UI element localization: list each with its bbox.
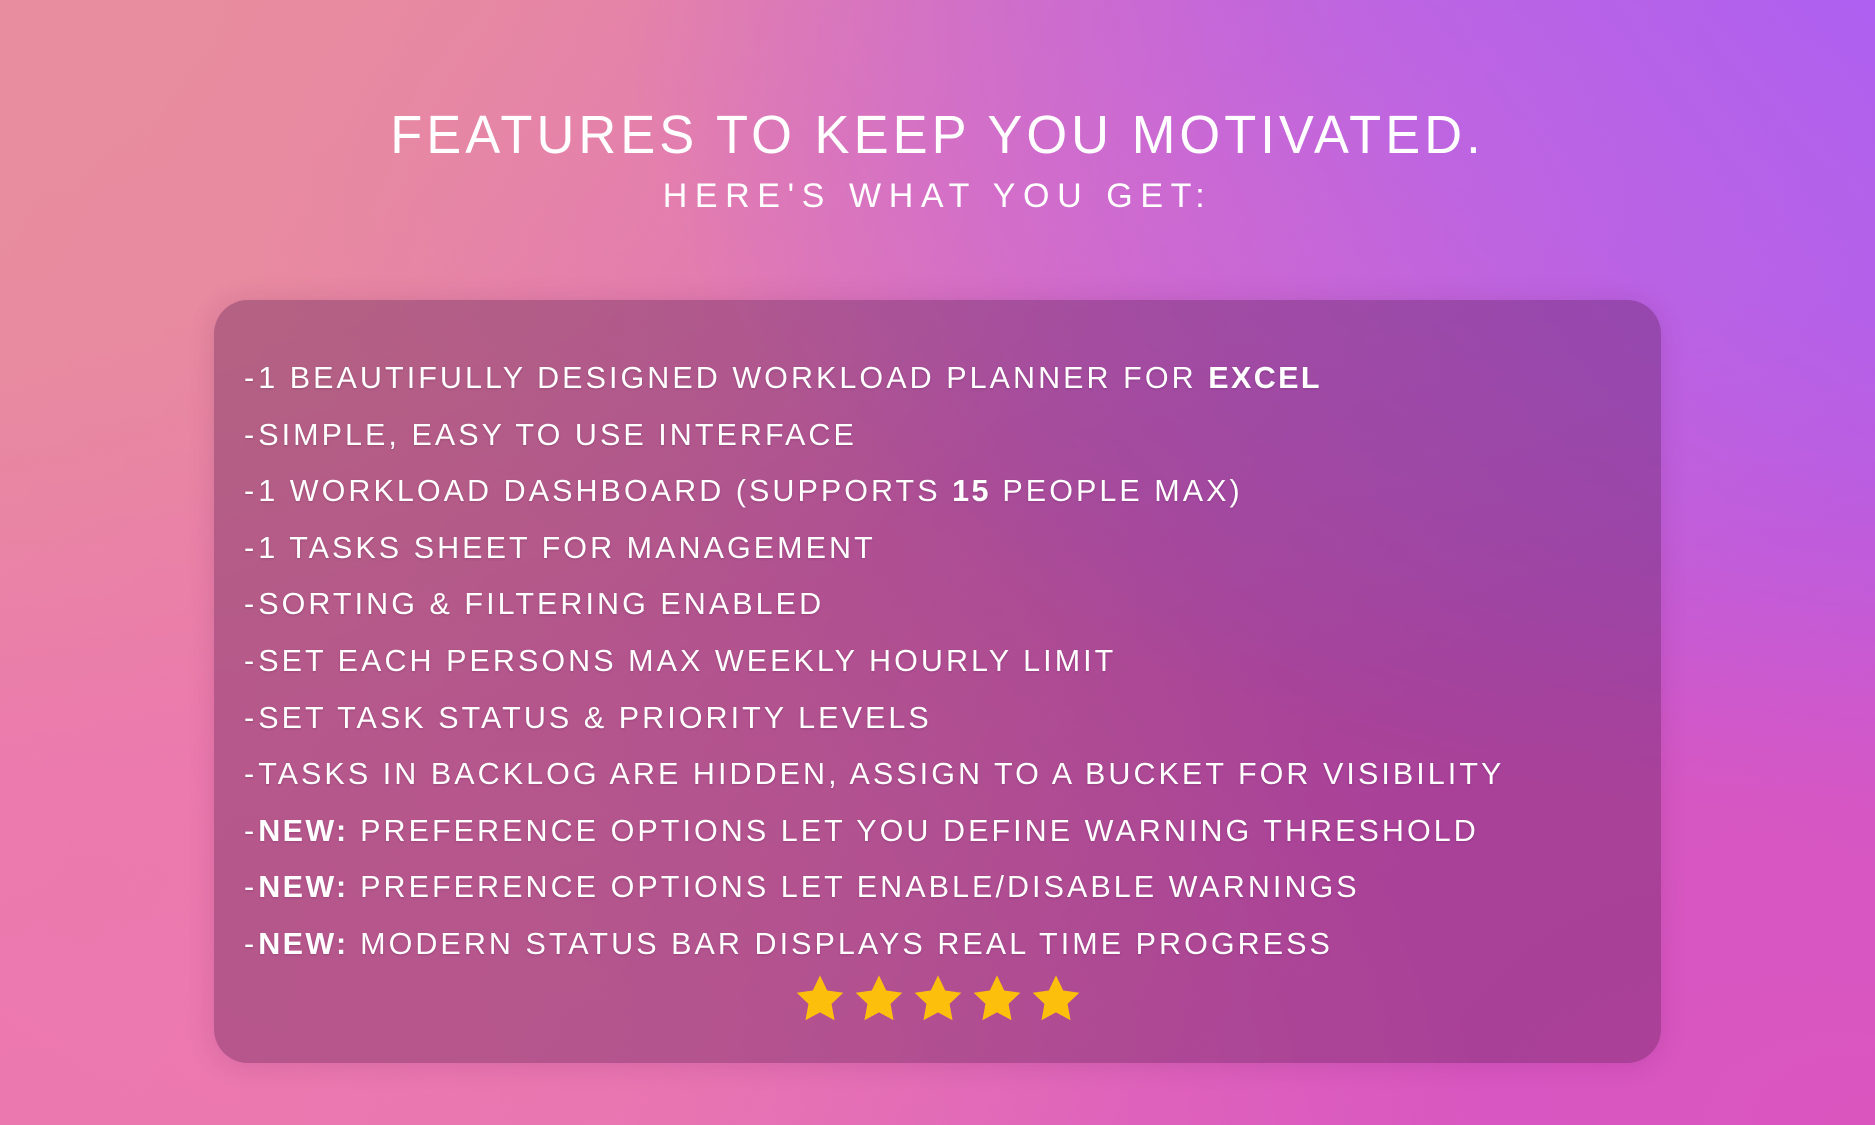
list-item-text: SORTING & FILTERING ENABLED <box>258 587 824 621</box>
bullet-dash: - <box>244 463 258 520</box>
list-item: - 1 WORKLOAD DASHBOARD (SUPPORTS 15 PEOP… <box>214 463 1661 520</box>
list-item-emphasis: NEW: <box>258 927 348 961</box>
list-item: - 1 BEAUTIFULLY DESIGNED WORKLOAD PLANNE… <box>214 350 1661 407</box>
bullet-dash: - <box>244 576 258 633</box>
list-item-text: 1 TASKS SHEET FOR MANAGEMENT <box>258 531 876 565</box>
list-item-emphasis: NEW: <box>258 814 348 848</box>
star-icon <box>1028 971 1084 1027</box>
star-icon <box>910 971 966 1027</box>
list-item: - TASKS IN BACKLOG ARE HIDDEN, ASSIGN TO… <box>214 746 1661 803</box>
list-item: - SORTING & FILTERING ENABLED <box>214 576 1661 633</box>
bullet-dash: - <box>244 350 258 407</box>
bullet-dash: - <box>244 407 258 464</box>
page-title: FEATURES TO KEEP YOU MOTIVATED. <box>28 0 1847 163</box>
list-item-emphasis: 15 <box>952 474 991 508</box>
list-item-emphasis: NEW: <box>258 870 348 904</box>
list-item-text-tail: PEOPLE MAX) <box>991 474 1243 508</box>
list-item-text-tail: MODERN STATUS BAR DISPLAYS REAL TIME PRO… <box>349 927 1333 961</box>
list-item: - NEW: PREFERENCE OPTIONS LET YOU DEFINE… <box>214 803 1661 860</box>
bullet-dash: - <box>244 520 258 577</box>
list-item: - NEW: PREFERENCE OPTIONS LET ENABLE/DIS… <box>214 859 1661 916</box>
list-item: - NEW: MODERN STATUS BAR DISPLAYS REAL T… <box>214 916 1661 973</box>
list-item: - SET TASK STATUS & PRIORITY LEVELS <box>214 690 1661 747</box>
promo-graphic: FEATURES TO KEEP YOU MOTIVATED. HERE'S W… <box>0 0 1875 1125</box>
rating-stars <box>214 971 1661 1027</box>
star-icon <box>969 971 1025 1027</box>
list-item-text: SET EACH PERSONS MAX WEEKLY HOURLY LIMIT <box>258 644 1116 678</box>
list-item-text: TASKS IN BACKLOG ARE HIDDEN, ASSIGN TO A… <box>258 757 1504 791</box>
list-item: - SET EACH PERSONS MAX WEEKLY HOURLY LIM… <box>214 633 1661 690</box>
list-item-text-tail: PREFERENCE OPTIONS LET YOU DEFINE WARNIN… <box>349 814 1479 848</box>
bullet-dash: - <box>244 916 258 973</box>
bullet-dash: - <box>244 803 258 860</box>
page-subtitle: HERE'S WHAT YOU GET: <box>0 163 1875 215</box>
list-item-text: SIMPLE, EASY TO USE INTERFACE <box>258 418 857 452</box>
bullet-dash: - <box>244 746 258 803</box>
features-card: - 1 BEAUTIFULLY DESIGNED WORKLOAD PLANNE… <box>214 300 1661 1063</box>
list-item: - SIMPLE, EASY TO USE INTERFACE <box>214 407 1661 464</box>
list-item: - 1 TASKS SHEET FOR MANAGEMENT <box>214 520 1661 577</box>
list-item-text: 1 WORKLOAD DASHBOARD (SUPPORTS <box>258 474 952 508</box>
bullet-dash: - <box>244 690 258 747</box>
bullet-dash: - <box>244 859 258 916</box>
list-item-text-tail: PREFERENCE OPTIONS LET ENABLE/DISABLE WA… <box>349 870 1360 904</box>
feature-list: - 1 BEAUTIFULLY DESIGNED WORKLOAD PLANNE… <box>214 300 1661 973</box>
bullet-dash: - <box>244 633 258 690</box>
list-item-text: SET TASK STATUS & PRIORITY LEVELS <box>258 701 932 735</box>
list-item-text: 1 BEAUTIFULLY DESIGNED WORKLOAD PLANNER … <box>258 361 1208 395</box>
header-block: FEATURES TO KEEP YOU MOTIVATED. HERE'S W… <box>0 0 1875 215</box>
list-item-emphasis: EXCEL <box>1208 361 1322 395</box>
star-icon <box>792 971 848 1027</box>
star-icon <box>851 971 907 1027</box>
